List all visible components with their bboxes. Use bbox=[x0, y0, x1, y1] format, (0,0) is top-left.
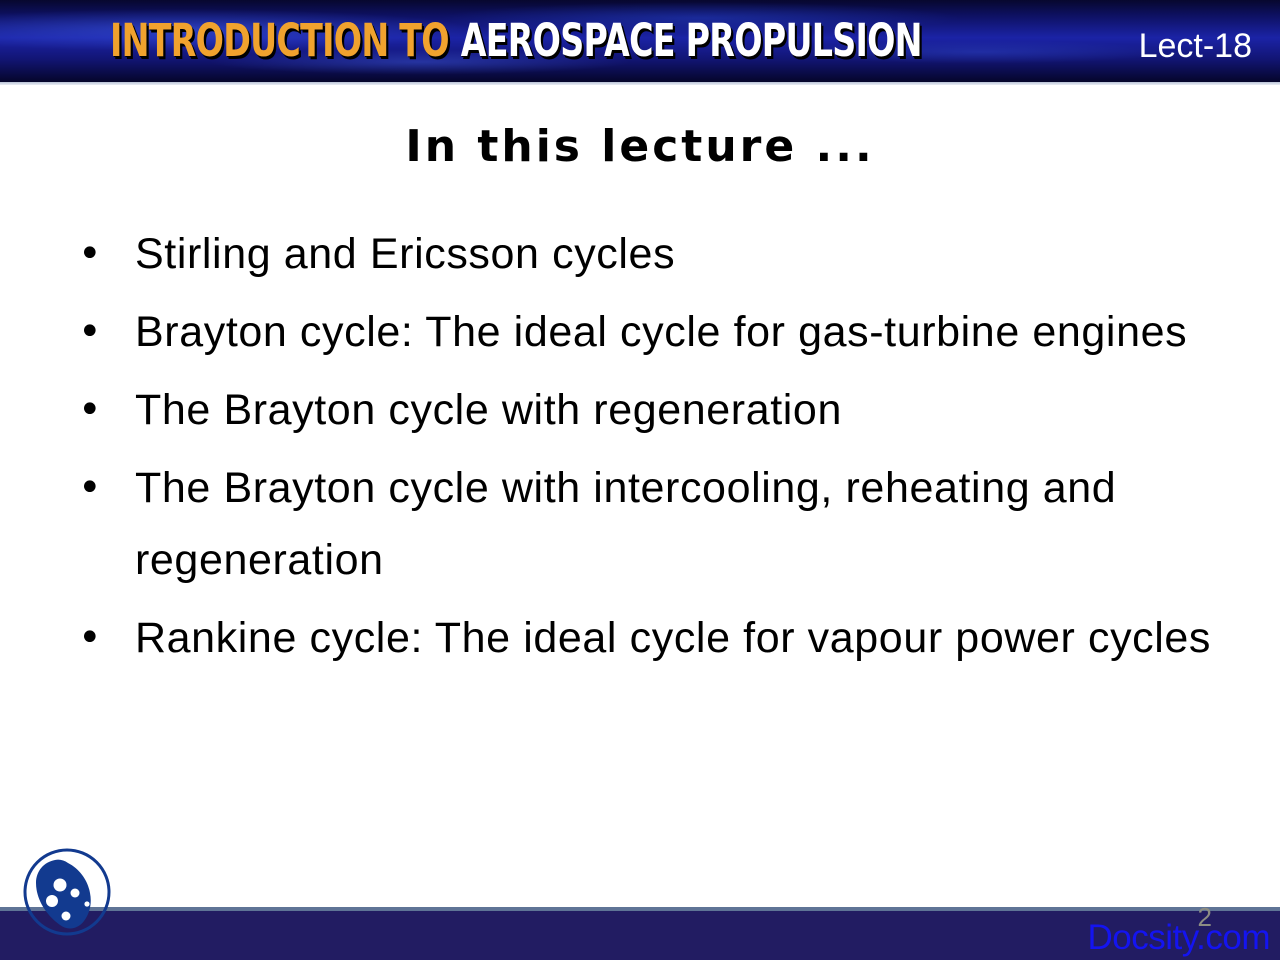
bullet-list: • Stirling and Ericsson cycles • Brayton… bbox=[78, 218, 1218, 680]
bullet-point-icon: • bbox=[78, 218, 135, 290]
presentation-slide: INTRODUCTION TOAEROSPACE PROPULSION Lect… bbox=[0, 0, 1280, 960]
list-item: • Brayton cycle: The ideal cycle for gas… bbox=[78, 296, 1218, 368]
bullet-point-icon: • bbox=[78, 296, 135, 368]
list-item: • The Brayton cycle with intercooling, r… bbox=[78, 452, 1218, 596]
list-item-label: The Brayton cycle with intercooling, reh… bbox=[135, 452, 1218, 596]
course-title-part-intro: INTRODUCTION TO bbox=[110, 14, 449, 67]
slide-header-banner: INTRODUCTION TOAEROSPACE PROPULSION Lect… bbox=[0, 0, 1280, 82]
institute-emblem-logo-icon bbox=[22, 847, 112, 937]
list-item-label: The Brayton cycle with regeneration bbox=[135, 374, 1218, 446]
header-underline-divider bbox=[0, 82, 1280, 85]
bullet-point-icon: • bbox=[78, 452, 135, 524]
bullet-point-icon: • bbox=[78, 602, 135, 674]
bullet-point-icon: • bbox=[78, 374, 135, 446]
docsity-watermark: Docsity.com bbox=[1088, 918, 1271, 958]
list-item: • Stirling and Ericsson cycles bbox=[78, 218, 1218, 290]
list-item: • Rankine cycle: The ideal cycle for vap… bbox=[78, 602, 1218, 674]
lecture-number-label: Lect-18 bbox=[1139, 26, 1252, 66]
list-item: • The Brayton cycle with regeneration bbox=[78, 374, 1218, 446]
list-item-label: Stirling and Ericsson cycles bbox=[135, 218, 1218, 290]
page-title: In this lecture ... bbox=[0, 118, 1280, 176]
list-item-label: Rankine cycle: The ideal cycle for vapou… bbox=[135, 602, 1218, 674]
list-item-label: Brayton cycle: The ideal cycle for gas-t… bbox=[135, 296, 1218, 368]
course-title: INTRODUCTION TOAEROSPACE PROPULSION bbox=[110, 16, 922, 66]
course-title-part-subject: AEROSPACE PROPULSION bbox=[461, 14, 922, 67]
